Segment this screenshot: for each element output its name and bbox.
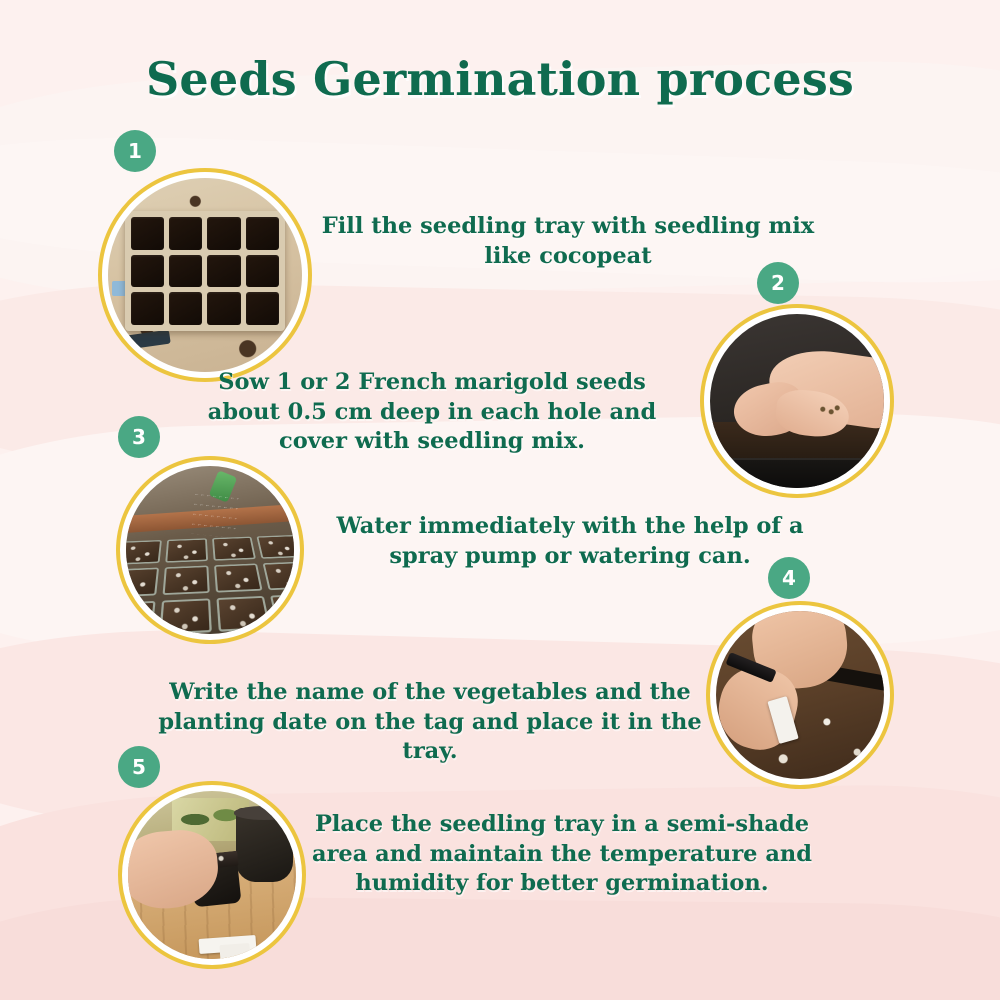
step-text-3: Water immediately with the help of a spr…	[310, 512, 830, 571]
water-spray	[191, 494, 239, 539]
tray-cell	[246, 217, 279, 250]
step-image-5	[122, 785, 302, 965]
tray-cell	[207, 292, 240, 325]
tray-cell	[216, 596, 270, 632]
step-image-4	[710, 605, 890, 785]
hands-sowing-seeds-photo	[710, 314, 884, 488]
tray-cell	[169, 255, 202, 288]
seedling-tray-filled-with-cocopeat-photo	[108, 178, 302, 372]
step-badge-2: 2	[757, 262, 799, 304]
tray-cell	[162, 566, 209, 595]
tray-cell	[126, 540, 161, 565]
tray-cell	[126, 601, 155, 634]
tray-cell	[262, 562, 294, 591]
tray-cell	[165, 538, 208, 562]
step-text-2: Sow 1 or 2 French marigold seeds about 0…	[182, 368, 682, 457]
tray-cell	[212, 537, 256, 561]
tray-cell	[159, 598, 212, 634]
tray-cell	[214, 564, 263, 593]
step-text-4: Write the name of the vegetables and the…	[150, 678, 710, 767]
step-badge-1: 1	[114, 130, 156, 172]
seedling-tray-grid	[125, 211, 284, 331]
tray-cell	[256, 535, 294, 559]
infographic-poster: Seeds Germination process 1 Fil	[0, 0, 1000, 1000]
placing-pot-on-bench-photo	[128, 791, 296, 959]
tray-cell	[246, 255, 279, 288]
step-badge-4: 4	[768, 557, 810, 599]
step-text-1: Fill the seedling tray with seedling mix…	[318, 212, 818, 271]
pot-rim	[234, 806, 294, 819]
step-text-5: Place the seedling tray in a semi-shade …	[312, 810, 812, 899]
tray-cell	[246, 292, 279, 325]
step-image-2	[704, 308, 890, 494]
tray-cell	[169, 292, 202, 325]
writing-plant-tag-photo	[716, 611, 884, 779]
tray-cell	[126, 568, 159, 598]
step-image-1	[102, 172, 308, 378]
tray-cell	[131, 292, 164, 325]
tray-cell	[131, 217, 164, 250]
tray-cell	[270, 594, 294, 629]
page-title: Seeds Germination process	[0, 52, 1000, 106]
step-badge-3: 3	[118, 416, 160, 458]
white-plant-label-secondary	[220, 943, 251, 959]
tray-cell-grid	[126, 535, 294, 634]
seeds-in-palm	[818, 404, 842, 416]
step-badge-5: 5	[118, 746, 160, 788]
tray-cell	[207, 217, 240, 250]
step-image-3	[120, 460, 300, 640]
tray-cell	[169, 217, 202, 250]
tray-cell	[131, 255, 164, 288]
watering-tray-with-spray-photo	[126, 466, 294, 634]
tray-cell	[207, 255, 240, 288]
black-seedling-tray	[710, 458, 884, 488]
